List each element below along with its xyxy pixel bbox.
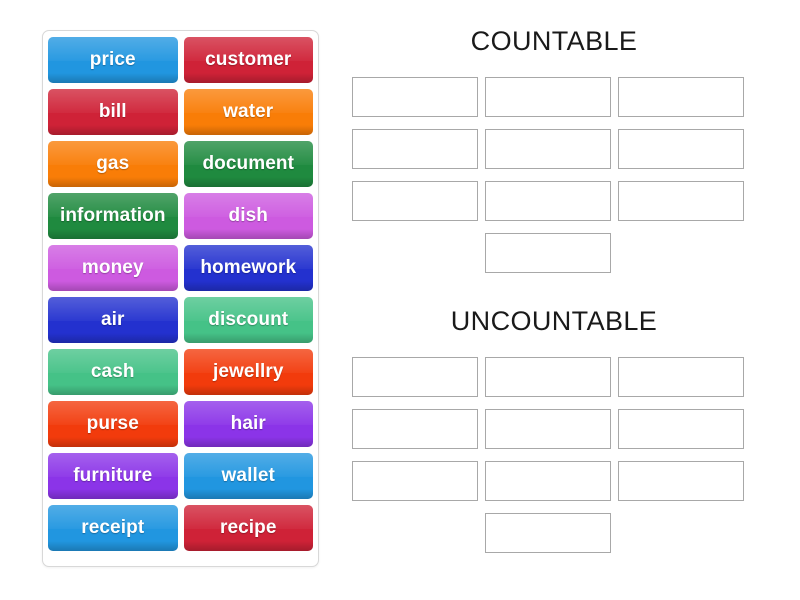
word-tile-label: information (60, 205, 166, 227)
group-uncountable-title: UNCOUNTABLE (352, 308, 756, 335)
drop-slot[interactable] (485, 461, 611, 501)
drop-slot[interactable] (618, 77, 744, 117)
drop-slot[interactable] (485, 409, 611, 449)
drop-slot[interactable] (485, 129, 611, 169)
drop-slot[interactable] (618, 461, 744, 501)
word-tile-label: wallet (222, 465, 275, 487)
drop-slot[interactable] (352, 461, 478, 501)
word-tile-label: customer (205, 49, 291, 71)
word-tile[interactable]: information (48, 193, 178, 239)
word-tile-label: price (90, 49, 136, 71)
word-tile-label: money (82, 257, 144, 279)
group-uncountable: UNCOUNTABLE (352, 308, 756, 553)
word-tile[interactable]: wallet (184, 453, 314, 499)
drop-slot[interactable] (485, 513, 611, 553)
word-tile-label: bill (99, 101, 127, 123)
drop-slot[interactable] (352, 77, 478, 117)
word-tile[interactable]: document (184, 141, 314, 187)
drop-slot[interactable] (485, 77, 611, 117)
word-tile[interactable]: money (48, 245, 178, 291)
drop-slot[interactable] (618, 357, 744, 397)
drop-slot[interactable] (352, 181, 478, 221)
group-sort-activity: pricecustomerbillwatergasdocumentinforma… (0, 0, 800, 600)
word-tile-label: discount (208, 309, 288, 331)
word-tile-label: furniture (73, 465, 152, 487)
word-tile[interactable]: dish (184, 193, 314, 239)
word-tile[interactable]: gas (48, 141, 178, 187)
drop-slot[interactable] (618, 129, 744, 169)
word-tile-label: receipt (81, 517, 144, 539)
word-tile-label: gas (96, 153, 129, 175)
word-tile[interactable]: receipt (48, 505, 178, 551)
word-tile-label: dish (229, 205, 268, 227)
drop-slot[interactable] (352, 129, 478, 169)
drop-slot[interactable] (352, 357, 478, 397)
word-tile[interactable]: customer (184, 37, 314, 83)
word-tile-label: homework (200, 257, 296, 279)
word-tile-label: water (223, 101, 273, 123)
word-tile[interactable]: air (48, 297, 178, 343)
group-countable-slots (352, 77, 756, 273)
word-tile-label: air (101, 309, 125, 331)
group-countable: COUNTABLE (352, 28, 756, 273)
drop-slot[interactable] (618, 181, 744, 221)
word-tile[interactable]: furniture (48, 453, 178, 499)
drop-slot[interactable] (485, 233, 611, 273)
word-tile[interactable]: bill (48, 89, 178, 135)
drop-slot[interactable] (485, 357, 611, 397)
group-countable-title: COUNTABLE (352, 28, 756, 55)
word-tile[interactable]: purse (48, 401, 178, 447)
word-tile[interactable]: discount (184, 297, 314, 343)
word-tile-label: jewellry (213, 361, 284, 383)
drop-slot[interactable] (352, 409, 478, 449)
word-tile-label: hair (231, 413, 266, 435)
word-tile[interactable]: water (184, 89, 314, 135)
drop-slot[interactable] (485, 181, 611, 221)
word-tile[interactable]: cash (48, 349, 178, 395)
word-bank-panel: pricecustomerbillwatergasdocumentinforma… (42, 30, 319, 567)
word-tile-label: document (202, 153, 294, 175)
word-tile[interactable]: recipe (184, 505, 314, 551)
word-tile[interactable]: hair (184, 401, 314, 447)
word-tile[interactable]: jewellry (184, 349, 314, 395)
drop-slot[interactable] (618, 409, 744, 449)
group-uncountable-slots (352, 357, 756, 553)
word-tile[interactable]: homework (184, 245, 314, 291)
word-tile-label: recipe (220, 517, 277, 539)
word-tile[interactable]: price (48, 37, 178, 83)
word-tile-grid: pricecustomerbillwatergasdocumentinforma… (48, 37, 313, 551)
word-tile-label: cash (91, 361, 135, 383)
word-tile-label: purse (87, 413, 139, 435)
